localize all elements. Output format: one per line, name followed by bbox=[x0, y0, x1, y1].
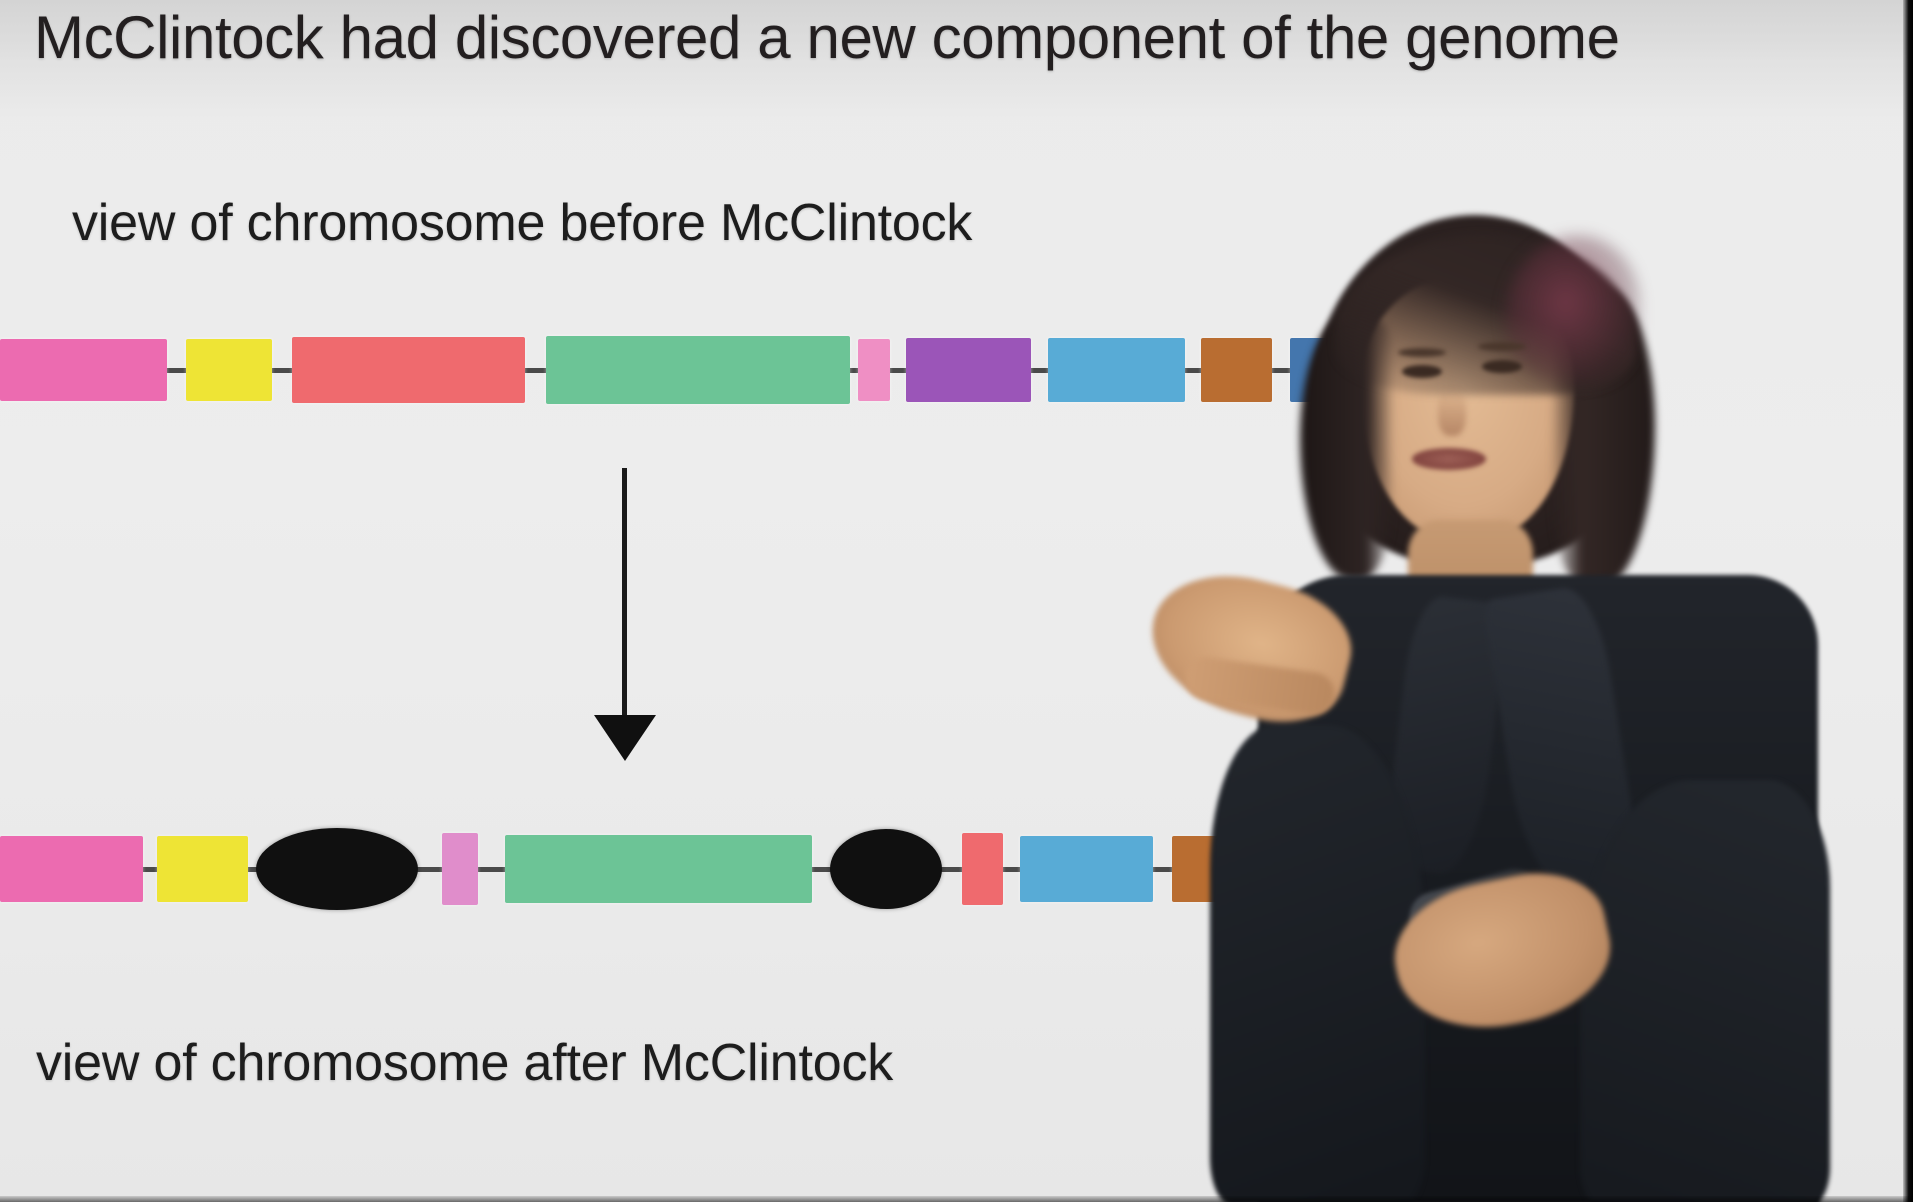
gene-lightblue bbox=[1020, 836, 1153, 902]
down-arrow-shaft bbox=[622, 468, 627, 723]
speaker-eyebrow-left bbox=[1398, 348, 1446, 357]
down-arrow-head bbox=[594, 715, 656, 761]
speaker-eyebrow-right bbox=[1478, 342, 1526, 351]
speaker-eye-left bbox=[1402, 365, 1442, 378]
caption-after: view of chromosome after McClintock bbox=[36, 1036, 893, 1091]
gene-red bbox=[292, 337, 525, 403]
gene-yellow bbox=[157, 836, 248, 902]
frame-bottom-edge bbox=[0, 1196, 1913, 1202]
speaker-nose bbox=[1438, 388, 1466, 436]
gene-lightpink bbox=[858, 339, 890, 401]
speaker-figure bbox=[1150, 180, 1913, 1202]
transposon-two bbox=[830, 829, 942, 909]
transposon-one bbox=[256, 828, 418, 910]
page-title: McClintock had discovered a new componen… bbox=[34, 6, 1620, 69]
gene-pink bbox=[0, 339, 167, 401]
gene-red bbox=[962, 833, 1003, 905]
gene-yellow bbox=[186, 339, 272, 401]
frame-right-edge bbox=[1903, 0, 1913, 1202]
speaker-arm-left bbox=[1210, 725, 1425, 1202]
speaker-mouth bbox=[1412, 448, 1486, 470]
speaker-arm-right bbox=[1580, 780, 1830, 1202]
gene-green bbox=[505, 835, 812, 903]
gene-green bbox=[546, 336, 850, 404]
gene-lightpink bbox=[442, 833, 478, 905]
caption-before: view of chromosome before McClintock bbox=[72, 196, 972, 251]
gene-pink bbox=[0, 836, 143, 902]
video-frame: McClintock had discovered a new componen… bbox=[0, 0, 1913, 1202]
gene-purple bbox=[906, 338, 1031, 402]
speaker-eye-right bbox=[1482, 360, 1522, 373]
